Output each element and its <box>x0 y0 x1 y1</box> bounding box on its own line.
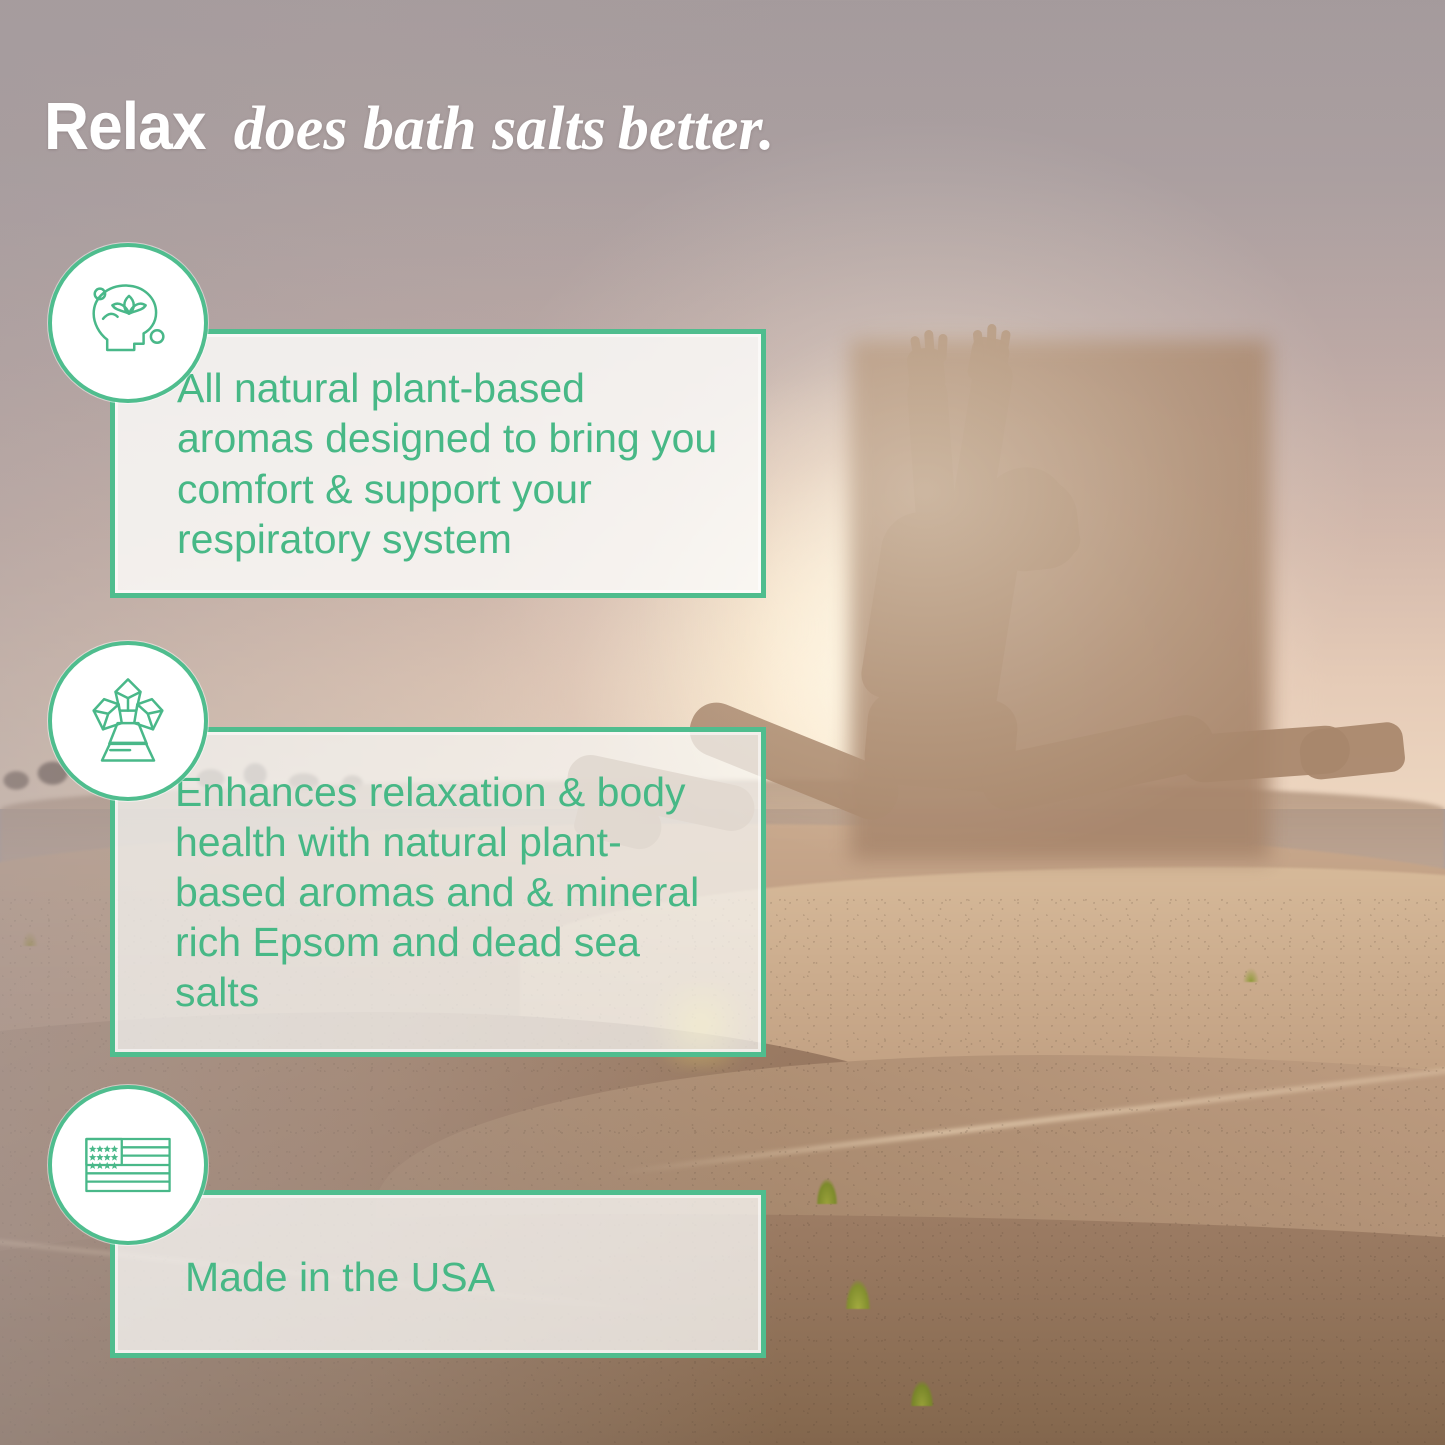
mineral-salt-crystals-icon <box>48 641 208 801</box>
page-title: Relaxdoes bath saltsbetter. <box>44 88 775 165</box>
desert-plant <box>22 932 38 946</box>
feature-callout-box: All natural plant-based aromas designed … <box>110 329 766 598</box>
feature-text: All natural plant-based aromas designed … <box>115 363 761 563</box>
desert-plant <box>910 1380 934 1406</box>
desert-plant <box>845 1279 871 1309</box>
finger <box>986 324 996 356</box>
feature-text: Made in the USA <box>115 1246 761 1302</box>
desert-plant <box>816 1178 838 1204</box>
head-lotus-mindfulness-icon <box>48 243 208 403</box>
feature-callout-box: Enhances relaxation & body health with n… <box>110 727 766 1057</box>
feature-text: Enhances relaxation & body health with n… <box>115 767 761 1017</box>
finger <box>924 330 935 361</box>
headline-emphasis: better. <box>606 95 775 163</box>
headline-middle: does bath salts <box>218 95 606 163</box>
feature-callout-box: Made in the USA <box>110 1190 766 1358</box>
brand-name: Relax <box>44 88 206 165</box>
usa-flag-icon <box>48 1085 208 1245</box>
desert-plant <box>1243 968 1259 982</box>
finger <box>973 330 985 359</box>
finger <box>937 334 947 362</box>
